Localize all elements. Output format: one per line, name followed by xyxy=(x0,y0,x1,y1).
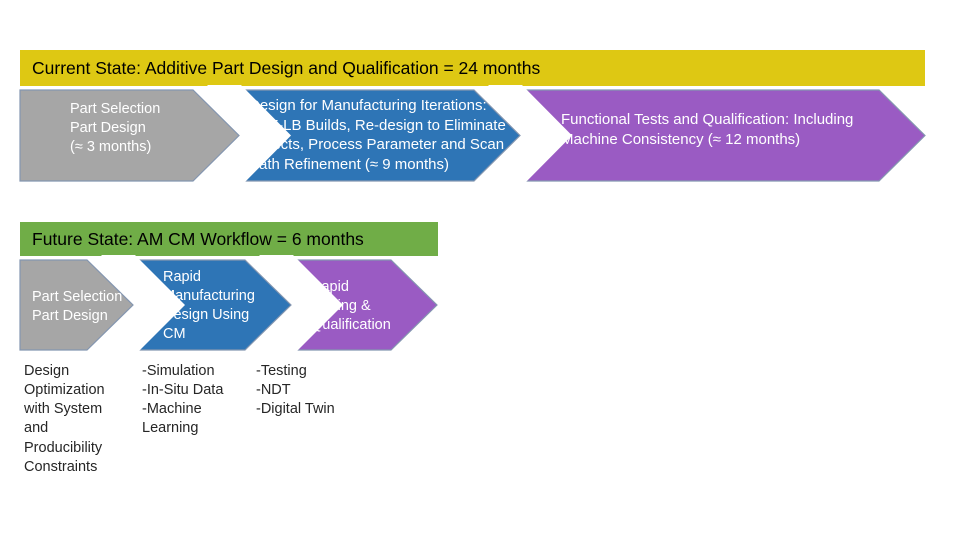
future-state-notes: Design Optimization with System and Prod… xyxy=(0,0,960,540)
notes-testing: -Testing -NDT -Digital Twin xyxy=(256,362,376,419)
slide-canvas: Current State: Additive Part Design and … xyxy=(0,0,960,540)
notes-manufacturing: -Simulation -In-Situ Data -Machine Learn… xyxy=(142,362,252,439)
notes-part-design: Design Optimization with System and Prod… xyxy=(24,362,134,477)
